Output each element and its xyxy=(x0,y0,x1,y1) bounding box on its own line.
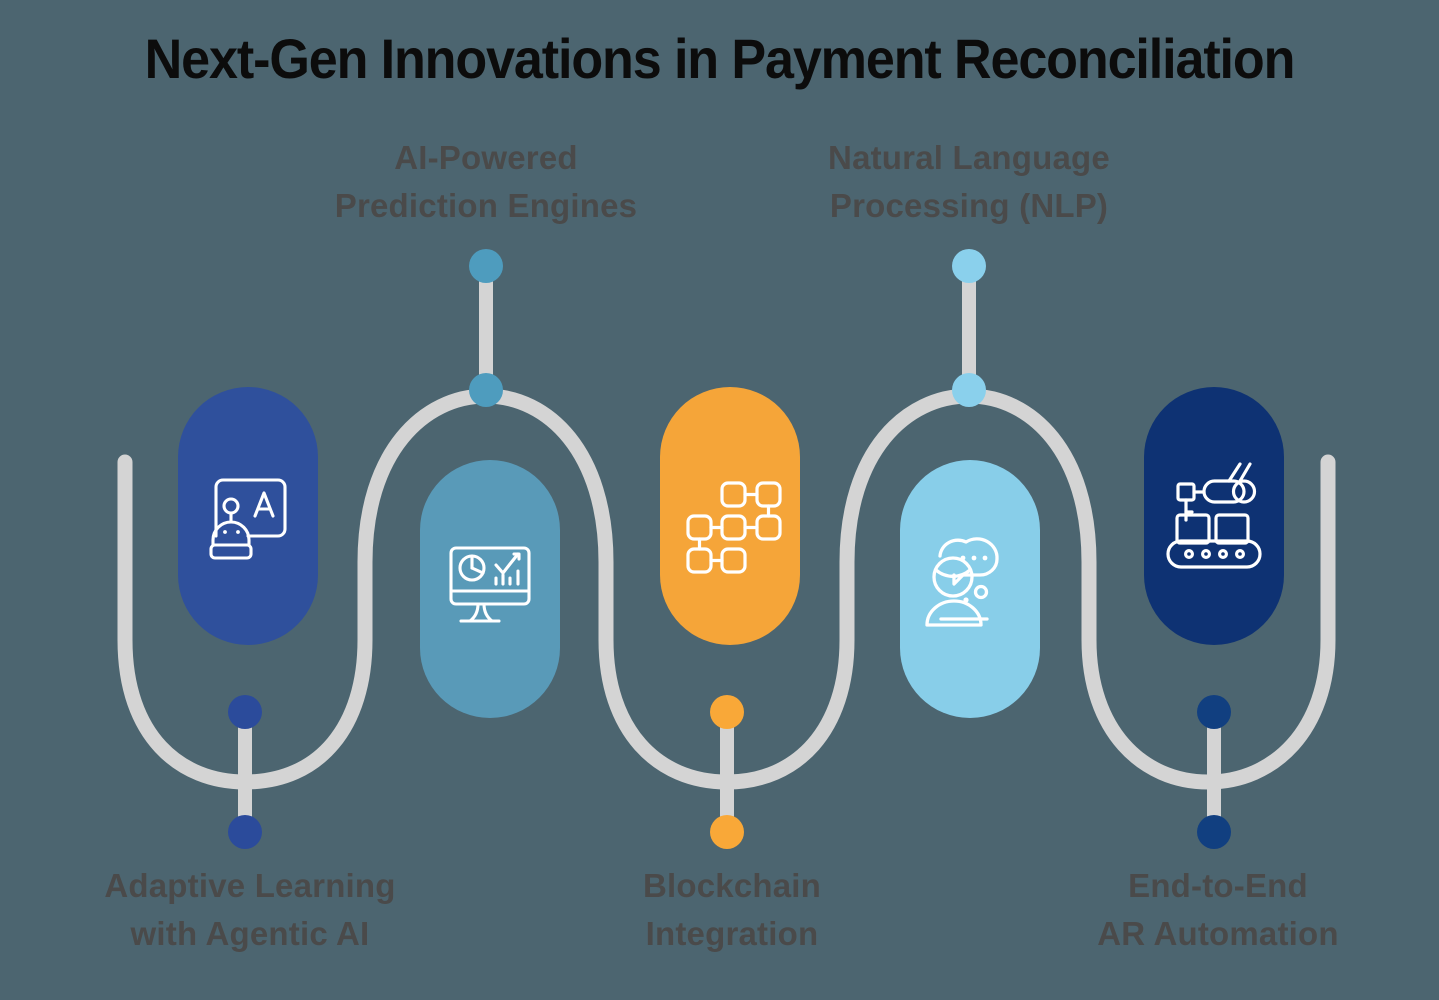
infographic-canvas: Next-Gen Innovations in Payment Reconcil… xyxy=(0,0,1439,1000)
pill-shape-nlp xyxy=(900,460,1040,718)
connector-dot-adaptive-learning-outer xyxy=(228,815,262,849)
connector-dot-blockchain-outer xyxy=(710,815,744,849)
step-pill-adaptive-learning[interactable] xyxy=(178,387,318,645)
connector-dot-nlp-outer xyxy=(952,249,986,283)
infographic-stage xyxy=(0,0,1439,1000)
connector-dot-blockchain-inner xyxy=(710,695,744,729)
connector-dot-nlp-inner xyxy=(952,373,986,407)
connector-dot-ai-prediction-outer xyxy=(469,249,503,283)
pill-shape-ar-automation xyxy=(1144,387,1284,645)
step-label-line2: AR Automation xyxy=(988,910,1439,958)
step-label-line2: Processing (NLP) xyxy=(739,182,1199,230)
step-label-blockchain-integration: Blockchain Integration xyxy=(502,862,962,958)
step-pill-ai-powered-prediction-engines[interactable] xyxy=(420,460,560,718)
connector-dot-adaptive-learning-inner xyxy=(228,695,262,729)
step-label-line1: AI-Powered xyxy=(394,139,578,176)
step-pill-blockchain-integration[interactable] xyxy=(660,387,800,645)
step-label-line2: Integration xyxy=(502,910,962,958)
step-pill-end-to-end-ar-automation[interactable] xyxy=(1144,387,1284,645)
connector-dot-ar-automation-outer xyxy=(1197,815,1231,849)
step-label-end-to-end-ar-automation: End-to-End AR Automation xyxy=(988,862,1439,958)
pill-shape-adaptive-learning xyxy=(178,387,318,645)
pill-shape-ai-prediction xyxy=(420,460,560,718)
step-label-adaptive-learning: Adaptive Learning with Agentic AI xyxy=(20,862,480,958)
step-pill-natural-language-processing[interactable] xyxy=(900,460,1040,718)
step-label-line1: End-to-End xyxy=(1128,867,1308,904)
step-label-line2: Prediction Engines xyxy=(256,182,716,230)
connector-dot-ar-automation-inner xyxy=(1197,695,1231,729)
step-label-natural-language-processing: Natural Language Processing (NLP) xyxy=(739,134,1199,230)
step-label-line1: Natural Language xyxy=(828,139,1110,176)
connector-dot-ai-prediction-inner xyxy=(469,373,503,407)
step-label-line1: Adaptive Learning xyxy=(104,867,395,904)
step-label-line2: with Agentic AI xyxy=(20,910,480,958)
step-label-line1: Blockchain xyxy=(643,867,821,904)
step-label-ai-powered-prediction-engines: AI-Powered Prediction Engines xyxy=(256,134,716,230)
